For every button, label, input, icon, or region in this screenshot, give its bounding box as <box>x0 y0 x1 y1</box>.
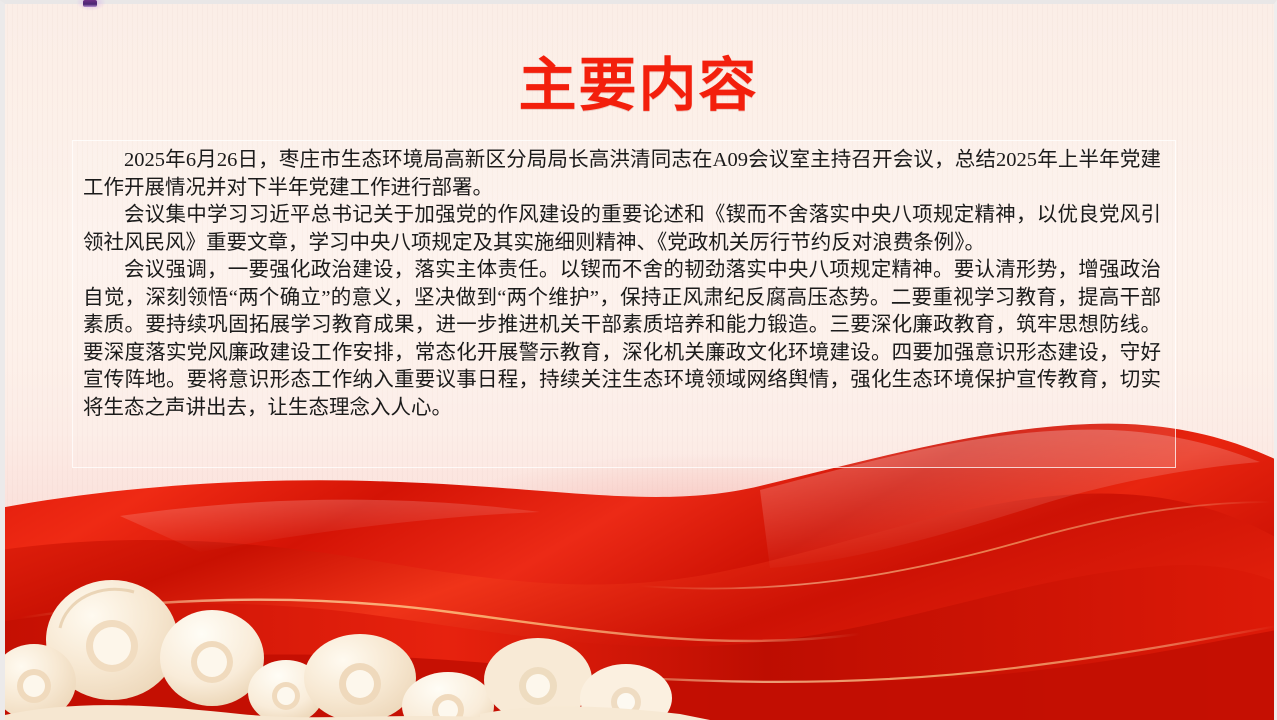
auspicious-cloud-motif <box>0 520 560 720</box>
page-title: 主要内容 <box>518 54 758 117</box>
auspicious-cloud-motif-right <box>480 610 710 720</box>
paragraph-3: 会议强调，一要强化政治建设，落实主体责任。以锲而不舍的韧劲落实中央八项规定精神。… <box>83 257 1161 422</box>
title-container: 主要内容 <box>0 54 1277 117</box>
content-body: 2025年6月26日，枣庄市生态环境局高新区分局局长高洪清同志在A09会议室主持… <box>83 147 1161 422</box>
paragraph-2: 会议集中学习习近平总书记关于加强党的作风建设的重要论述和《锲而不舍落实中央八项规… <box>83 202 1161 257</box>
paragraph-1: 2025年6月26日，枣庄市生态环境局高新区分局局长高洪清同志在A09会议室主持… <box>83 147 1161 202</box>
content-text-box: 2025年6月26日，枣庄市生态环境局高新区分局局长高洪清同志在A09会议室主持… <box>72 140 1176 468</box>
top-edge-artifact <box>83 0 97 7</box>
presentation-slide: 主要内容 2025年6月26日，枣庄市生态环境局高新区分局局长高洪清同志在A09… <box>0 0 1277 720</box>
